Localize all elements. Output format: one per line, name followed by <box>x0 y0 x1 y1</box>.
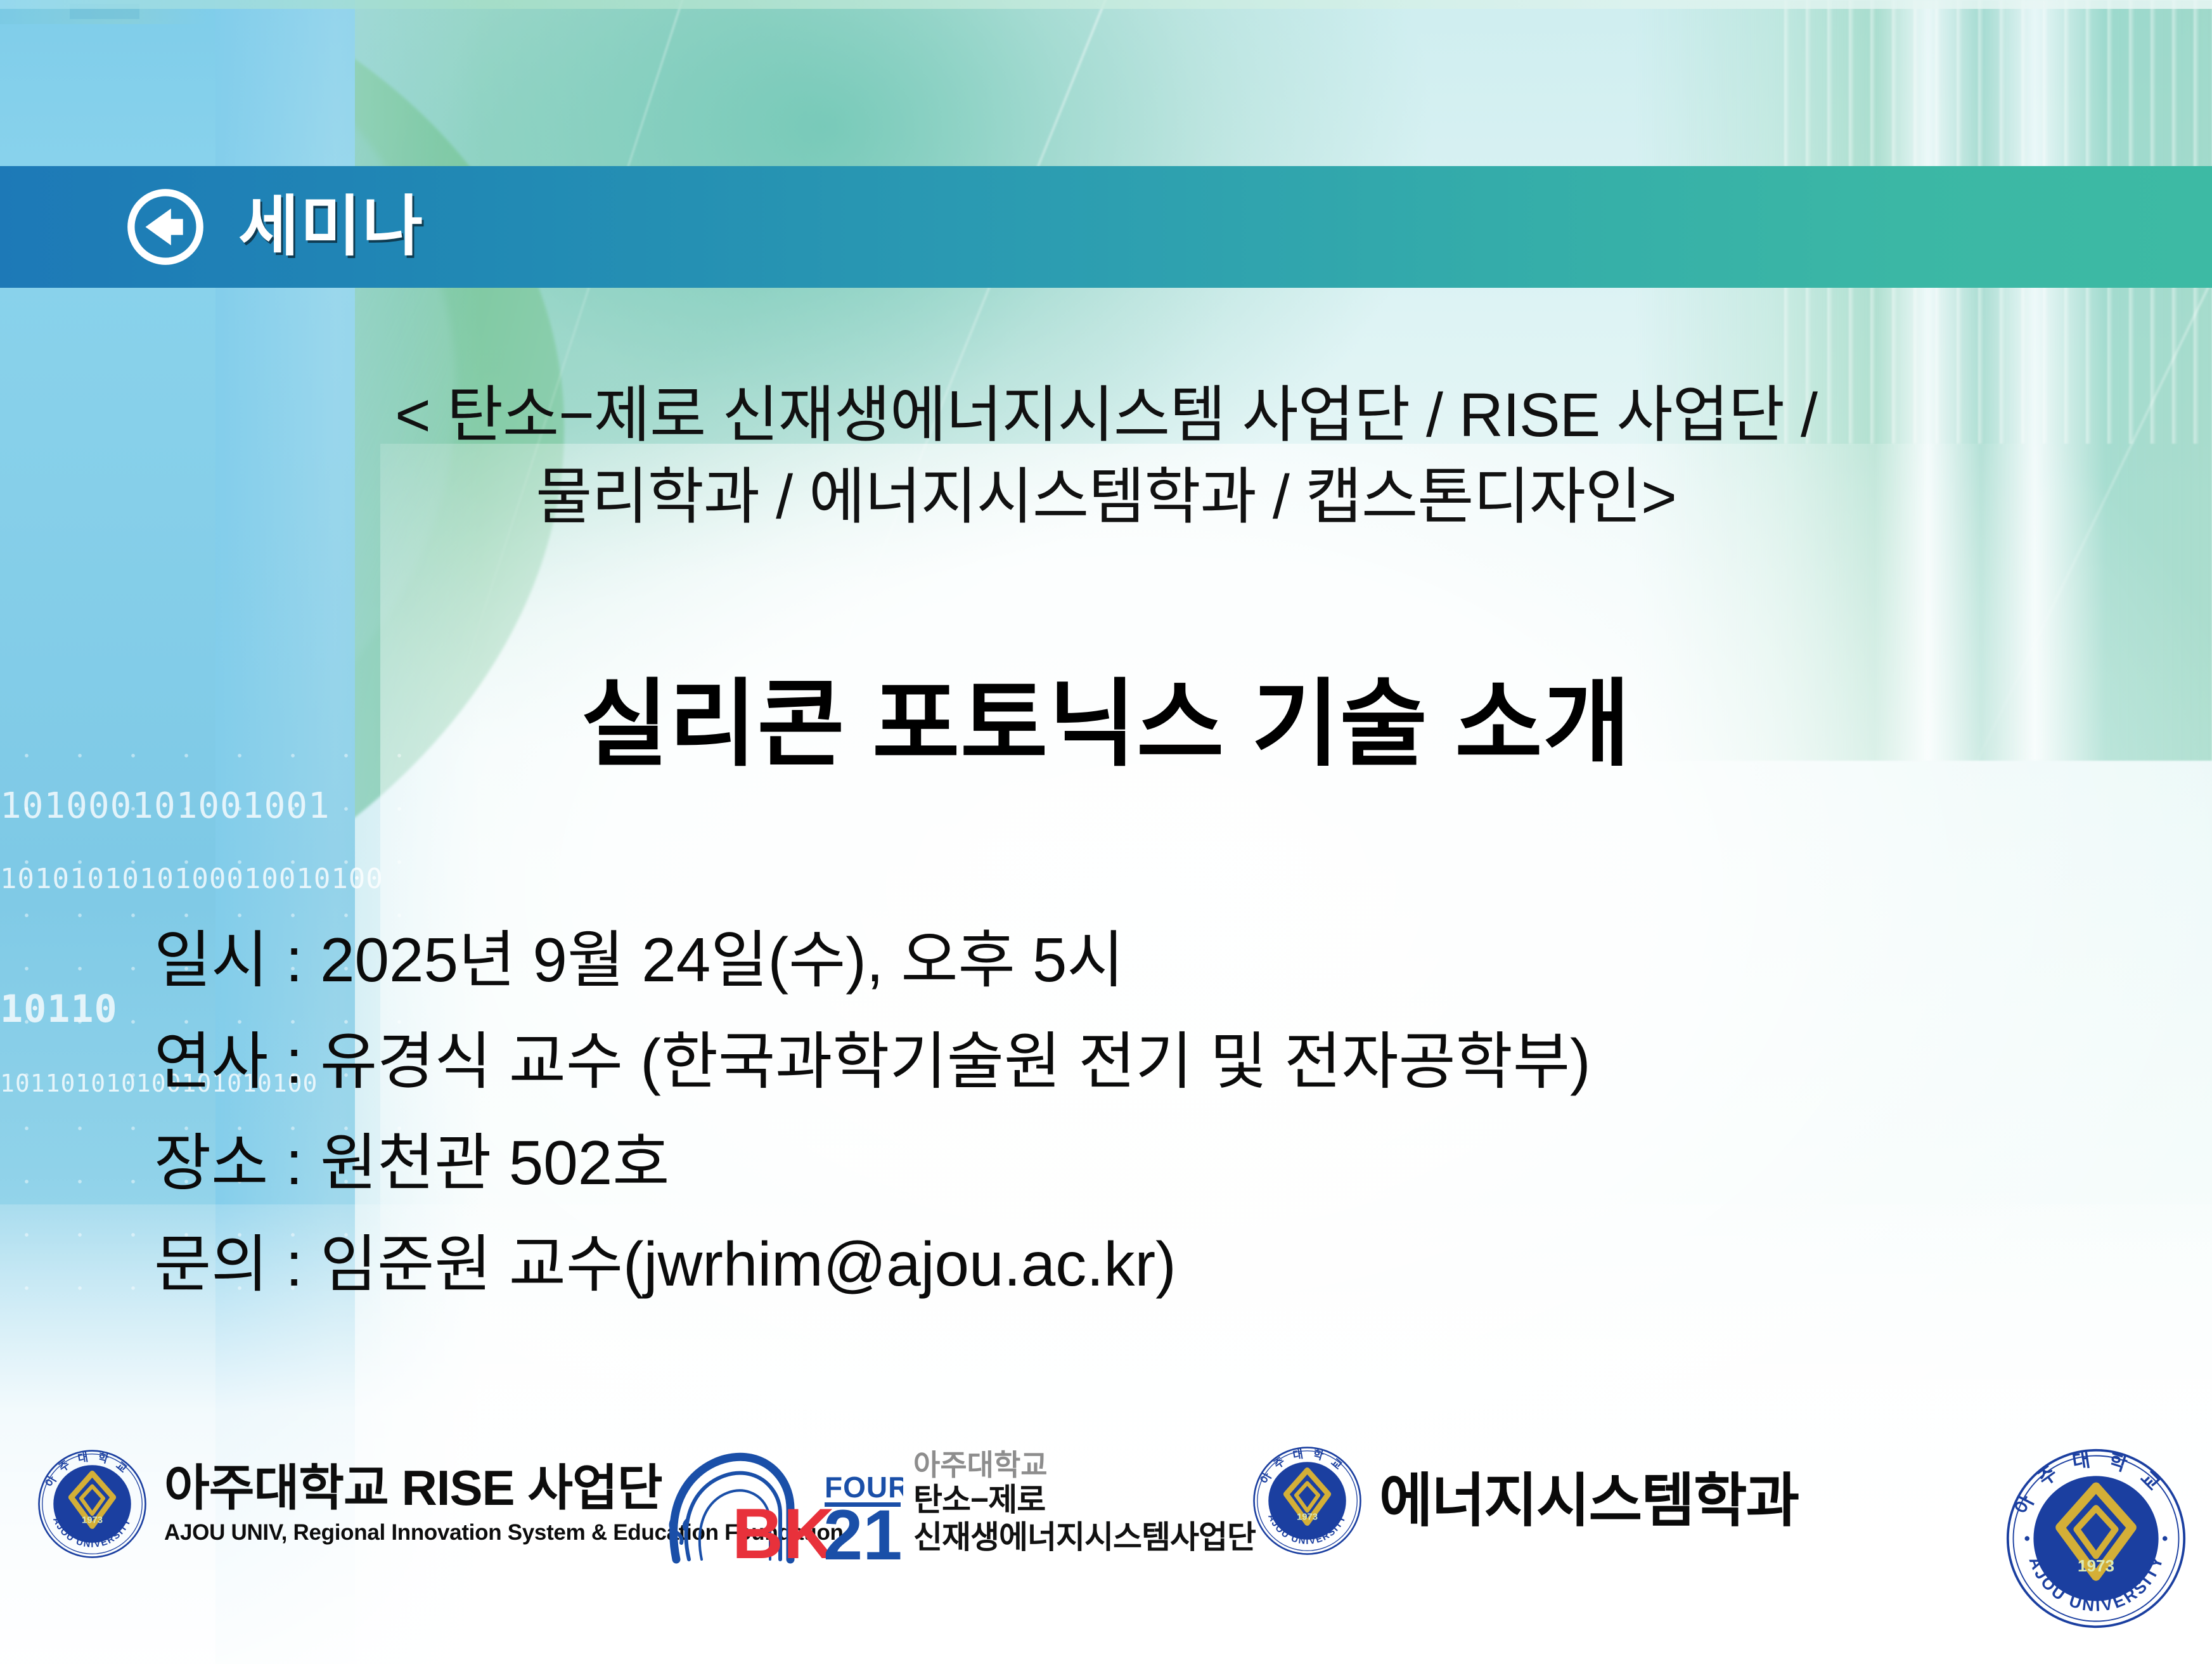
svg-text:1973: 1973 <box>1297 1512 1318 1522</box>
bk21-four-head-icon: BK FOUR 21 <box>669 1439 903 1566</box>
energy-dept-label: 에너지시스템학과 <box>1379 1472 1798 1530</box>
background-top-line <box>0 0 2212 9</box>
back-arrow-circle-icon[interactable] <box>125 187 205 267</box>
ajou-university-seal-icon: 1973 아 주 대 학 교 AJOU UNIVERSITY <box>2004 1447 2188 1634</box>
seminar-title: 실리콘 포토닉스 기술 소개 <box>0 672 2212 777</box>
ajou-university-seal-icon: 1973 아 주 대 학 교 AJOU UNIVERSITY <box>1252 1445 1363 1556</box>
subtitle-line-2: 물리학과 / 에너지시스템학과 / 캡스톤디자인> <box>0 456 2212 538</box>
bk21-line-2: 탄소−제로 <box>913 1481 1256 1519</box>
svg-text:1973: 1973 <box>82 1515 103 1525</box>
bk21-text-block: 아주대학교 탄소−제로 신재생에너지시스템사업단 <box>913 1448 1256 1557</box>
detail-speaker: 연사 : 유경식 교수 (한국과학기술원 전기 및 전자공학부) <box>154 1030 1591 1092</box>
detail-location: 장소 : 원천관 502호 <box>154 1132 1591 1194</box>
svg-text:21: 21 <box>823 1495 903 1566</box>
ajou-university-seal-icon: 1973 아 주 대 학 교 AJOU UNIVERSITY <box>37 1448 148 1559</box>
detail-contact[interactable]: 문의 : 임준원 교수(jwrhim@ajou.ac.kr) <box>154 1233 1591 1295</box>
subtitle: < 탄소−제로 신재생에너지시스템 사업단 / RISE 사업단 / 물리학과 … <box>0 374 2212 538</box>
detail-datetime: 일시 : 2025년 9월 24일(수), 오후 5시 <box>154 929 1591 991</box>
logo-energy-systems-dept: 1973 아 주 대 학 교 AJOU UNIVERSITY 에너지시스템학과 <box>1252 1445 1798 1556</box>
logo-bk21-four: BK FOUR 21 아주대학교 탄소−제로 신재생에너지시스템사업단 <box>669 1439 1256 1566</box>
seminar-poster: 101000101001001 1010101010100010010100 1… <box>0 0 2212 1664</box>
page-title: 세미나 <box>238 194 424 260</box>
bk21-line-1: 아주대학교 <box>913 1448 1256 1482</box>
svg-text:BK: BK <box>732 1494 835 1566</box>
subtitle-line-1: < 탄소−제로 신재생에너지시스템 사업단 / RISE 사업단 / <box>395 380 1817 449</box>
header-bar: 세미나 <box>0 166 2212 288</box>
seal-year: 1973 <box>2078 1556 2114 1575</box>
seminar-details: 일시 : 2025년 9월 24일(수), 오후 5시 연사 : 유경식 교수 … <box>154 929 1591 1334</box>
bk21-line-3: 신재생에너지시스템사업단 <box>913 1519 1256 1556</box>
